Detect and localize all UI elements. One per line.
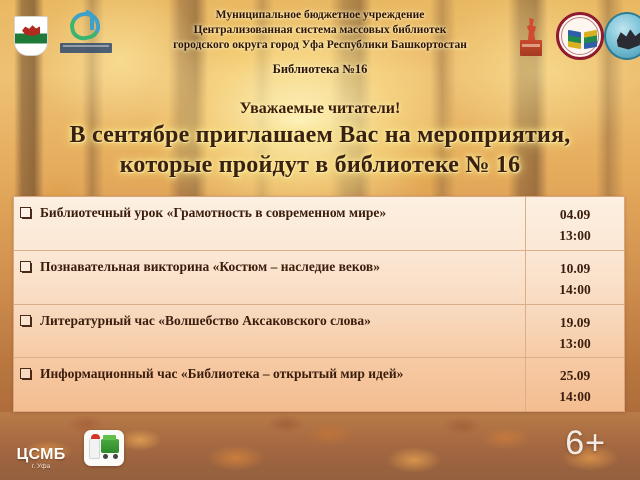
csmb-subtitle: г. Уфа xyxy=(10,463,72,470)
event-cell: Информационный час «Библиотека – открыты… xyxy=(14,358,526,411)
poster-canvas: Муниципальное бюджетное учреждение Центр… xyxy=(0,0,640,480)
csmb-title: ЦСМБ xyxy=(10,446,72,463)
book-circle-emblem-icon xyxy=(556,12,604,60)
csmb-logo: ЦСМБ г. Уфа xyxy=(10,446,72,470)
org-line-3: городского округа город Уфа Республики Б… xyxy=(120,38,520,53)
event-title: Познавательная викторина «Костюм – насле… xyxy=(40,258,380,275)
monument-base-shape xyxy=(520,40,542,56)
salavat-yulaev-monument-icon xyxy=(520,18,542,58)
event-title: Информационный час «Библиотека – открыты… xyxy=(40,365,403,382)
event-cell: Познавательная викторина «Костюм – насле… xyxy=(14,251,526,304)
event-time: 13:00 xyxy=(526,333,624,354)
datetime-cell: 19.09 13:00 xyxy=(526,305,624,358)
org-line-2: Централизованная система массовых библио… xyxy=(120,23,520,38)
greeting-text: Уважаемые читатели! xyxy=(0,100,640,118)
swan-neck-shape xyxy=(86,10,94,30)
age-rating-badge: 6+ xyxy=(565,424,606,463)
organization-header: Муниципальное бюджетное учреждение Центр… xyxy=(120,8,520,53)
library-name: Библиотека №16 xyxy=(0,62,640,77)
swan-body-shape xyxy=(67,9,102,43)
datetime-cell: 25.09 14:00 xyxy=(526,358,624,411)
title-line-1: В сентябре приглашаем Вас на мероприятия… xyxy=(0,120,640,150)
badge-wheel-right-shape xyxy=(113,454,118,459)
emblem-ring-shape xyxy=(561,17,599,55)
checkbox-bullet-icon xyxy=(20,207,31,218)
library-delivery-badge-icon xyxy=(84,430,124,466)
datetime-cell: 10.09 14:00 xyxy=(526,251,624,304)
event-date: 19.09 xyxy=(526,312,624,333)
org-line-1: Муниципальное бюджетное учреждение xyxy=(120,8,520,23)
badge-cart-shape xyxy=(101,439,119,453)
event-date: 10.09 xyxy=(526,258,624,279)
table-row: Информационный час «Библиотека – открыты… xyxy=(14,358,624,411)
table-row: Литературный час «Волшебство Аксаковског… xyxy=(14,305,624,359)
checkbox-bullet-icon xyxy=(20,368,31,379)
table-row: Библиотечный урок «Грамотность в совреме… xyxy=(14,197,624,251)
event-cell: Библиотечный урок «Грамотность в совреме… xyxy=(14,197,526,250)
event-cell: Литературный час «Волшебство Аксаковског… xyxy=(14,305,526,358)
ufa-coat-of-arms-icon xyxy=(14,16,48,56)
table-row: Познавательная викторина «Костюм – насле… xyxy=(14,251,624,305)
event-time: 14:00 xyxy=(526,279,624,300)
event-time: 13:00 xyxy=(526,225,624,246)
checkbox-bullet-icon xyxy=(20,261,31,272)
event-date: 25.09 xyxy=(526,365,624,386)
checkbox-bullet-icon xyxy=(20,315,31,326)
event-time: 14:00 xyxy=(526,386,624,407)
bashkortostan-swan-logo-icon xyxy=(58,10,114,58)
badge-wheel-left-shape xyxy=(103,454,108,459)
badge-figure-shape xyxy=(89,437,100,459)
event-title: Литературный час «Волшебство Аксаковског… xyxy=(40,312,371,329)
events-schedule-table: Библиотечный урок «Грамотность в совреме… xyxy=(13,196,625,412)
monument-figure-shape xyxy=(526,18,537,40)
page-title: В сентябре приглашаем Вас на мероприятия… xyxy=(0,120,640,180)
event-date: 04.09 xyxy=(526,204,624,225)
title-line-2: которые пройдут в библиотеке № 16 xyxy=(0,150,640,180)
event-title: Библиотечный урок «Грамотность в совреме… xyxy=(40,204,386,221)
datetime-cell: 04.09 13:00 xyxy=(526,197,624,250)
swan-caption-bar xyxy=(60,43,112,53)
